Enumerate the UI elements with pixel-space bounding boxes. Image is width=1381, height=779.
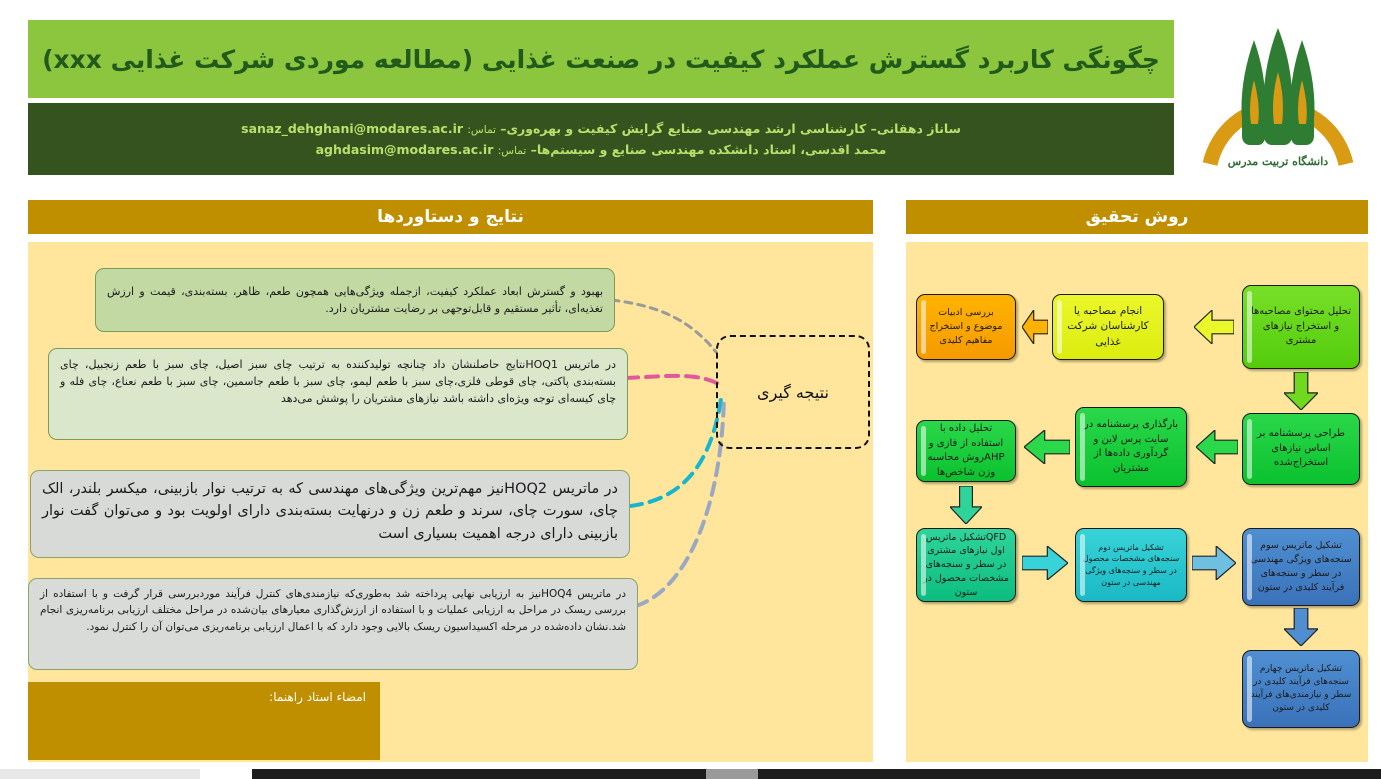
flow-node-n2: انجام مصاحبه یا کارشناسان شرکت غذایی [1052, 294, 1164, 360]
poster-header: چگونگی کاربرد گسترش عملکرد کیفیت در صنعت… [0, 0, 1381, 190]
flow-node-n9: تشکیل ماتریس سوم سنجه‌های ویژگی مهندسی د… [1242, 528, 1360, 606]
flow-arrow-n6-n7 [950, 486, 982, 524]
flow-node-n6-label: تحلیل داده با استفاده از فازی و AHPروش م… [923, 422, 1009, 480]
section-header-method: روش تحقیق [906, 200, 1368, 234]
flow-node-n2-label: انجام مصاحبه یا کارشناسان شرکت غذایی [1059, 304, 1157, 350]
author-1-contact-label: تماس: [467, 124, 496, 136]
results-hoq4-box: در ماتریس HOQ4نیز به ارزیابی نهایی پرداخ… [28, 578, 638, 670]
author-2-name-role: محمد اقدسی، استاد دانشکده مهندسی صنایع و… [531, 142, 887, 157]
flow-node-n1-label: بررسی ادبیات موضوع و استخراج مفاهیم کلید… [923, 306, 1009, 347]
results-hoq2-text: در ماتریس HOQ2نیز مهم‌ترین ویژگی‌های مهن… [42, 481, 618, 542]
flow-arrow-n5-n6 [1024, 430, 1070, 464]
author-line-2: محمد اقدسی، استاد دانشکده مهندسی صنایع و… [28, 139, 1174, 160]
flow-node-n3-label: تحلیل محتوای مصاحبه‌ها و استخراج نیازهای… [1249, 305, 1353, 349]
author-2-contact-label: تماس: [498, 145, 527, 157]
flow-node-n4: طراحی پرسشنامه بر اساس نیازهای استخراج‌ش… [1242, 413, 1360, 485]
flow-node-n10-label: تشکیل ماتریس چهارم سنجه‌های فرآیند کلیدی… [1249, 663, 1353, 715]
flow-node-n5-label: بارگذاری پرسشنامه در سایت پرس لاین و گرد… [1082, 418, 1180, 476]
section-header-results-label: نتایج و دستاوردها [377, 207, 524, 227]
flow-node-n5: بارگذاری پرسشنامه در سایت پرس لاین و گرد… [1075, 407, 1187, 487]
authors-bar: ساناز دهقانی– کارشناسی ارشد مهندسی صنایع… [28, 103, 1174, 175]
taskbar-highlight-tile [706, 769, 758, 779]
conclusion-node-label: نتیجه گیری [757, 383, 829, 402]
author-line-1: ساناز دهقانی– کارشناسی ارشد مهندسی صنایع… [28, 118, 1174, 139]
flow-node-n8-label: تشکیل ماتریس دوم سنجه‌های مشخصات محصول د… [1082, 542, 1180, 588]
poster-title-bar: چگونگی کاربرد گسترش عملکرد کیفیت در صنعت… [28, 20, 1174, 98]
results-hoq1-text: در ماتریس HOQ1نتایج حاصلنشان داد چنانچه … [60, 358, 616, 405]
flow-node-n8: تشکیل ماتریس دوم سنجه‌های مشخصات محصول د… [1075, 528, 1187, 602]
supervisor-signature-label: امضاء استاد راهنما: [269, 690, 366, 704]
page-title: چگونگی کاربرد گسترش عملکرد کیفیت در صنعت… [42, 45, 1160, 74]
results-hoq4-text: در ماتریس HOQ4نیز به ارزیابی نهایی پرداخ… [40, 588, 626, 633]
university-logo: دانشگاه تربیت مدرس [1188, 14, 1368, 182]
flow-node-n7-label: QFDتشکیل ماتریس اول نیازهای مشتری در سطر… [923, 531, 1009, 600]
flow-arrow-n4-n5 [1196, 430, 1238, 464]
flow-node-n1: بررسی ادبیات موضوع و استخراج مفاهیم کلید… [916, 294, 1016, 360]
flow-node-n4-label: طراحی پرسشنامه بر اساس نیازهای استخراج‌ش… [1249, 427, 1353, 471]
flow-arrow-n9-n10 [1284, 608, 1318, 646]
supervisor-signature-box: امضاء استاد راهنما: [28, 682, 380, 760]
results-summary-box: بهبود و گسترش ابعاد عملکرد کیفیت، ازجمله… [95, 268, 615, 332]
flow-node-n7: QFDتشکیل ماتریس اول نیازهای مشتری در سطر… [916, 528, 1016, 602]
flow-node-n3: تحلیل محتوای مصاحبه‌ها و استخراج نیازهای… [1242, 285, 1360, 369]
author-1-name-role: ساناز دهقانی– کارشناسی ارشد مهندسی صنایع… [500, 121, 961, 136]
results-hoq2-box: در ماتریس HOQ2نیز مهم‌ترین ویژگی‌های مهن… [30, 470, 630, 558]
taskbar-left-tile [0, 769, 200, 779]
results-hoq1-box: در ماتریس HOQ1نتایج حاصلنشان داد چنانچه … [48, 348, 628, 440]
flow-arrow-n2-n1 [1022, 310, 1048, 344]
flow-node-n6: تحلیل داده با استفاده از فازی و AHPروش م… [916, 420, 1016, 482]
author-1-email[interactable]: sanaz_dehghani@modares.ac.ir [241, 121, 463, 136]
flow-arrow-n3-n2 [1194, 310, 1234, 344]
flow-node-n9-label: تشکیل ماتریس سوم سنجه‌های ویژگی مهندسی د… [1249, 539, 1353, 594]
flow-node-n10: تشکیل ماتریس چهارم سنجه‌های فرآیند کلیدی… [1242, 650, 1360, 728]
flow-arrow-n8-n9 [1192, 546, 1236, 580]
taskbar-divider [200, 769, 252, 779]
university-logo-caption: دانشگاه تربیت مدرس [1188, 155, 1368, 168]
author-2-email[interactable]: aghdasim@modares.ac.ir [316, 142, 494, 157]
flow-arrow-n7-n8 [1022, 546, 1068, 580]
conclusion-node: نتیجه گیری [716, 335, 870, 449]
section-header-method-label: روش تحقیق [1086, 207, 1189, 227]
poster-root: چگونگی کاربرد گسترش عملکرد کیفیت در صنعت… [0, 0, 1381, 779]
results-summary-text: بهبود و گسترش ابعاد عملکرد کیفیت، ازجمله… [107, 283, 603, 317]
section-header-results: نتایج و دستاوردها [28, 200, 873, 234]
flow-arrow-n3-n4 [1284, 372, 1318, 410]
